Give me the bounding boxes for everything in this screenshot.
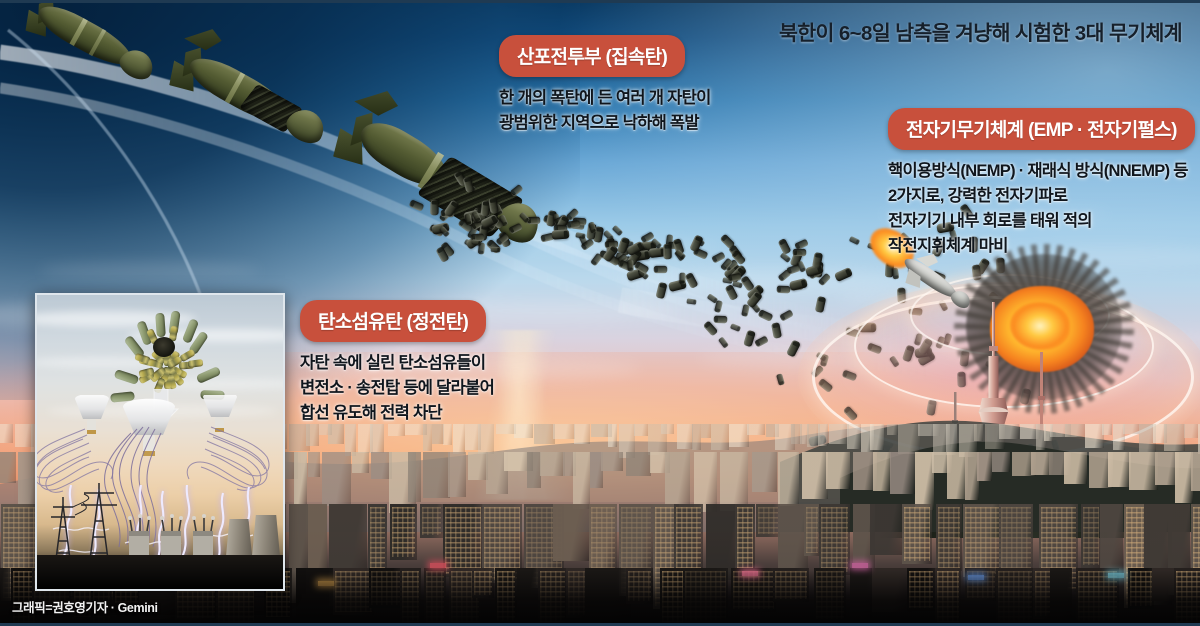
building: [294, 452, 307, 505]
callout-carbon-fiber-bomb-text: 자탄 속에 실린 탄소섬유들이 변전소 · 송전탑 등에 달라붙어 합선 유도해…: [300, 351, 494, 426]
building: [974, 424, 983, 441]
building: [534, 424, 555, 444]
callout-emp-weapon-badge: 전자기무기체계 (EMP · 전자기펄스): [888, 108, 1195, 150]
neon-sign: [430, 563, 446, 568]
building-windows: [392, 507, 415, 557]
building: [1164, 424, 1186, 451]
building: [553, 504, 590, 561]
building: [0, 424, 13, 443]
building: [946, 424, 957, 455]
submunition: [664, 243, 673, 258]
building: [999, 424, 1019, 439]
callout-carbon-fiber-bomb: 탄소섬유탄 (정전탄) 자탄 속에 실린 탄소섬유들이 변전소 · 송전탑 등에…: [300, 300, 494, 426]
building: [574, 424, 590, 444]
submunition: [654, 266, 667, 273]
building: [826, 452, 850, 489]
submunition: [776, 286, 790, 294]
callout-emp-weapon: 전자기무기체계 (EMP · 전자기펄스) 핵이용방식(NEMP) · 재래식 …: [888, 108, 1195, 259]
building: [873, 452, 891, 491]
callout-carbon-fiber-bomb-badge: 탄소섬유탄 (정전탄): [300, 300, 486, 342]
building: [352, 452, 369, 473]
callout-cluster-munition-badge: 산포전투부 (집속탄): [499, 35, 685, 77]
building: [694, 452, 718, 512]
building: [540, 452, 565, 476]
building-windows: [904, 507, 931, 561]
building: [890, 452, 915, 494]
building: [1065, 424, 1085, 437]
submunition: [464, 213, 472, 225]
carbon-fiber-bomb-inset: [35, 293, 285, 591]
building: [308, 452, 320, 477]
building: [328, 424, 345, 444]
building-windows: [938, 507, 961, 568]
building: [887, 424, 898, 435]
building: [370, 424, 384, 453]
building-windows: [1193, 507, 1200, 573]
building: [898, 424, 920, 454]
building: [408, 452, 421, 502]
building: [711, 424, 729, 450]
building-windows: [758, 507, 779, 534]
building: [1123, 424, 1140, 434]
submunition: [627, 259, 634, 271]
neon-sign: [852, 563, 868, 568]
building-windows: [1083, 507, 1099, 565]
building: [423, 424, 432, 451]
building: [692, 424, 701, 450]
submunition: [714, 316, 728, 324]
building-windows: [445, 507, 481, 574]
inset-burst-core: [153, 337, 175, 357]
building: [720, 452, 748, 511]
building: [453, 424, 464, 454]
callout-cluster-munition-text: 한 개의 폭탄에 든 여러 개 자탄이 광범위한 지역으로 낙하해 폭발: [499, 86, 711, 136]
building: [729, 424, 748, 447]
building-windows: [422, 507, 441, 535]
building-windows: [737, 507, 753, 571]
building: [677, 424, 693, 449]
building: [1184, 424, 1198, 438]
building: [870, 424, 884, 450]
building: [1191, 452, 1200, 491]
building: [0, 452, 16, 483]
submunition: [490, 247, 500, 253]
building: [1064, 452, 1086, 484]
building: [977, 452, 992, 481]
graphic-credit: 그래픽=권호영기자 · Gemini: [12, 597, 158, 616]
building: [661, 424, 675, 434]
building-windows: [965, 507, 999, 574]
building-windows: [821, 507, 848, 572]
building: [847, 424, 862, 449]
building: [443, 424, 453, 445]
callout-cluster-munition: 산포전투부 (집속탄) 한 개의 폭탄에 든 여러 개 자탄이 광범위한 지역으…: [499, 35, 711, 136]
inset-submunition: [188, 359, 204, 368]
building: [573, 452, 590, 509]
submunition: [793, 249, 806, 256]
page-title: 북한이 6~8일 남측을 겨냥해 시험한 3대 무기체계: [779, 16, 1182, 46]
building: [514, 424, 533, 438]
building: [701, 424, 711, 438]
building: [1102, 424, 1112, 435]
inset-ground: [37, 555, 283, 589]
inset-shell-fragment: [196, 366, 222, 384]
building: [747, 424, 765, 435]
inset-shell-fragment: [155, 313, 166, 338]
building: [778, 452, 799, 506]
building: [601, 452, 623, 471]
frame-top: [0, 0, 1200, 3]
building: [870, 504, 905, 555]
submunition: [686, 298, 696, 304]
building: [527, 452, 540, 488]
callout-emp-weapon-text: 핵이용방식(NEMP) · 재래식 방식(NNEMP) 등 2가지로, 강력한 …: [888, 159, 1195, 259]
building: [306, 424, 319, 446]
building: [478, 424, 494, 454]
submunition: [566, 220, 580, 229]
building: [818, 424, 829, 446]
building: [752, 452, 778, 492]
submunition: [551, 230, 569, 240]
building-windows: [806, 507, 818, 553]
building: [322, 452, 352, 506]
building: [626, 452, 652, 476]
building: [608, 424, 617, 447]
building: [448, 452, 467, 497]
submunition: [431, 200, 440, 216]
submunition: [679, 272, 685, 284]
inset-shell-fragment: [114, 369, 140, 385]
infographic-canvas: 북한이 6~8일 남측을 겨냥해 시험한 3대 무기체계 산포전투부 (집속탄)…: [0, 0, 1200, 626]
building: [423, 452, 450, 498]
building: [634, 424, 648, 436]
building: [992, 452, 1010, 472]
building: [1100, 504, 1123, 576]
building: [553, 424, 575, 439]
building: [802, 452, 828, 499]
